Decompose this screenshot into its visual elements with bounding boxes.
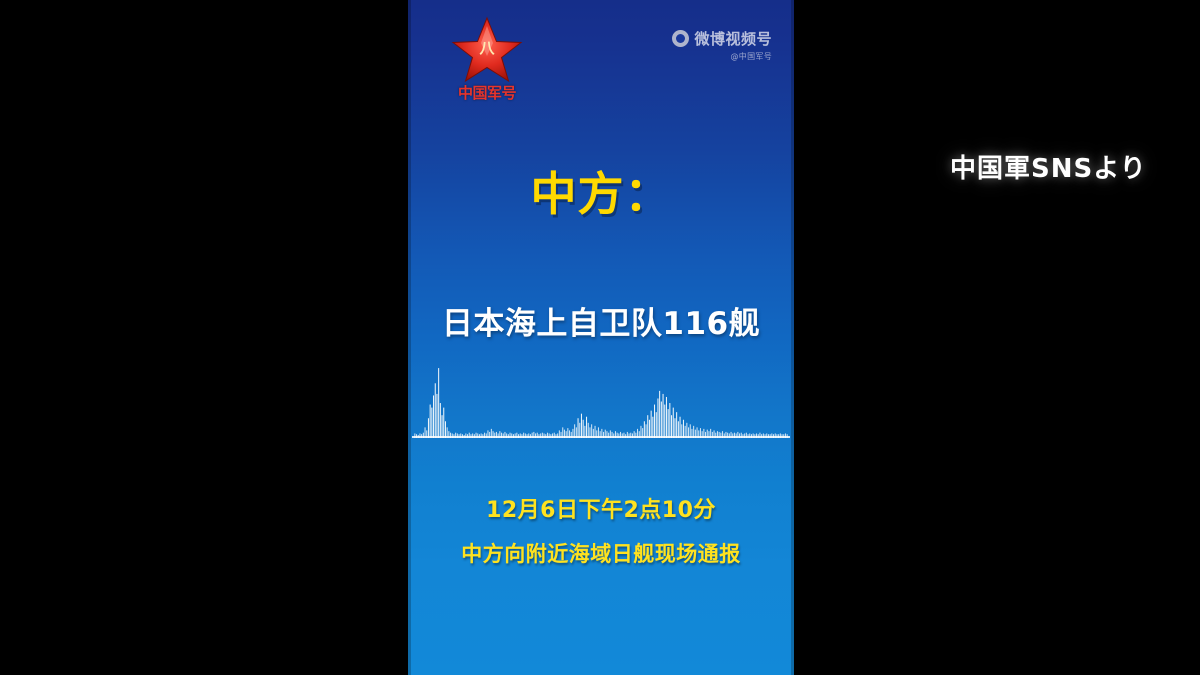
video-frame: 八 中国军号 微博视频号 @中国军号 中方： 日本海上自卫队116舰 12月6日…: [0, 0, 1200, 675]
channel-logo: 八 中国军号: [444, 16, 530, 112]
weibo-eye-icon: [672, 30, 689, 47]
waveform-baseline: [412, 436, 790, 438]
logo-wordmark: 中国军号: [458, 82, 516, 103]
star-glyph: 八: [478, 39, 495, 57]
weibo-watermark: 微博视频号 @中国军号: [672, 28, 772, 62]
caption-body-line: 中方向附近海域日舰现场通报: [408, 538, 794, 568]
weibo-handle-label: @中国军号: [672, 51, 772, 62]
source-note: 中国軍SNSより: [950, 148, 1147, 185]
subtitle-main: 日本海上自卫队116舰: [408, 298, 794, 343]
waveform-bars: [408, 358, 794, 438]
caption-block: 12月6日下午2点10分 中方向附近海域日舰现场通报: [408, 492, 794, 568]
speaker-label: 中方：: [408, 158, 794, 224]
weibo-brand-label: 微博视频号: [694, 28, 772, 49]
audio-waveform: [408, 358, 794, 438]
weibo-brand-row: 微博视频号: [672, 28, 772, 49]
video-panel: 八 中国军号 微博视频号 @中国军号 中方： 日本海上自卫队116舰 12月6日…: [408, 0, 794, 675]
red-star-icon: 八: [451, 16, 523, 86]
caption-time-line: 12月6日下午2点10分: [408, 492, 794, 524]
